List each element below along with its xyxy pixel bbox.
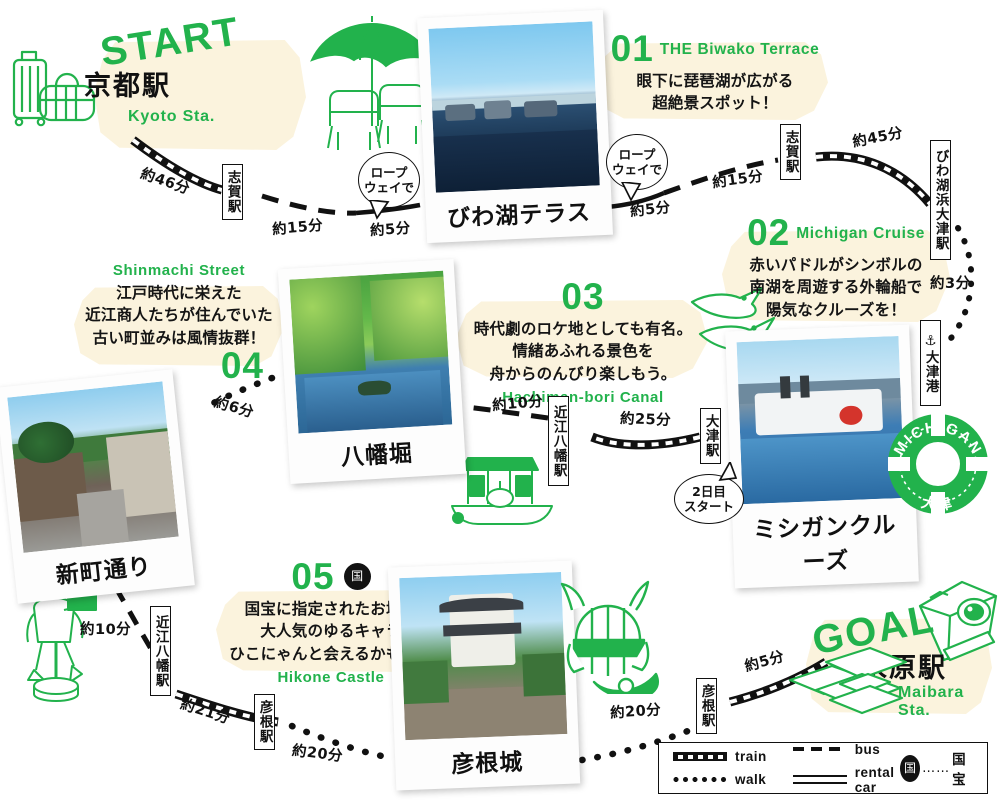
time-kyoto-shiga: 約46分 [138, 162, 193, 199]
legend-col-2: bus rental car [793, 742, 900, 795]
station-omi-hachiman-2[interactable]: 近江八幡駅 [150, 606, 171, 696]
legend-label-walk: walk [735, 772, 766, 787]
station-shiga-1[interactable]: 志賀駅 [222, 164, 243, 220]
bubble-tail-day2-start [716, 462, 738, 482]
legend-label-bus: bus [855, 742, 881, 757]
photo-image-michigan-cruise [737, 336, 905, 504]
national-treasure-badge: 国 [344, 563, 371, 590]
time-hikone-castle: 約20分 [291, 739, 344, 766]
michigan-life-ring-logo: MICHIGAN 大津 [886, 412, 990, 516]
legend: train walk bus rental car 国 …… 国宝 [658, 742, 988, 794]
legend-label-national-treasure: 国宝 [952, 748, 973, 788]
spot-04-name-en: Shinmachi Street [62, 262, 296, 279]
route-shiga-ropeway-bus [262, 196, 356, 213]
time-shinmachi-omihachiman: 約10分 [80, 618, 131, 639]
station-omi-hachiman-1[interactable]: 近江八幡駅 [548, 396, 569, 486]
legend-item-national-treasure: 国 …… 国宝 [900, 748, 973, 788]
station-hikone-2[interactable]: 彦根駅 [696, 678, 717, 734]
spot-02-name-en: Michigan Cruise [796, 225, 925, 243]
photo-caption: びわ湖テラス [436, 185, 602, 242]
bubble-tail-ropeway-out [368, 200, 390, 220]
spot-04-number: 04 [221, 347, 264, 384]
photo-caption: 八幡堀 [299, 424, 456, 483]
station-biwakohama-otsu[interactable]: びわ湖浜大津駅 [930, 140, 951, 260]
spot-04-desc: 江戸時代に栄えた 近江商人たちが住んでいた 古い町並みは風情抜群！ [62, 282, 296, 349]
legend-col-1: train walk [673, 749, 767, 787]
route-otsu-omihachiman-train [592, 437, 700, 445]
legend-label-rental-car: rental car [855, 765, 900, 795]
time-hachimanbori-shinmachi: 約6分 [212, 391, 257, 422]
legend-item-bus: bus [793, 742, 900, 757]
rental-car-swatch [793, 775, 847, 784]
time-shiga-ropeway: 約15分 [271, 214, 324, 239]
station-otsu[interactable]: 大津駅 [700, 408, 721, 464]
start-station-jp: 京都駅 [84, 64, 171, 103]
photo-caption: ミシガンクルーズ [743, 498, 908, 588]
station-otsu-port[interactable]: ⚓大津港 [920, 320, 941, 406]
photo-biwako-terrace[interactable]: びわ湖テラス [417, 10, 613, 243]
photo-shinmachi-street[interactable]: 新町通り [0, 369, 195, 603]
bus-dash-swatch [793, 745, 847, 754]
spot-01-desc: 眼下に琵琶湖が広がる 超絶景スポット！ [598, 70, 832, 115]
spot-03: 03 時代劇のロケ地としても有名。 情緒あふれる景色を 舟からのんびり楽しもう。… [452, 278, 714, 406]
spot-02-desc: 赤いパドルがシンボルの 南湖を周遊する外輪船で 陽気なクルーズを！ [716, 254, 956, 321]
spot-02-number: 02 [747, 214, 790, 251]
legend-nt-dots: …… [922, 761, 950, 776]
time-otsu-omihachiman: 約25分 [620, 407, 672, 430]
spot-01-number: 01 [611, 30, 654, 67]
itinerary-map: MICHIGAN 大津 びわ湖テラス [0, 0, 1000, 800]
bubble-tail-ropeway-back [620, 182, 642, 202]
time-omihachiman-hikone: 約21分 [178, 693, 233, 729]
start-station-en: Kyoto Sta. [128, 108, 215, 126]
photo-image-biwako-terrace [428, 21, 599, 192]
walk-dot-swatch [673, 775, 727, 784]
national-treasure-badge-legend: 国 [900, 755, 920, 782]
route-shiga2-biwakohama-train [816, 156, 930, 204]
time-hikone2-maibara: 約5分 [742, 645, 787, 676]
photo-image-shinmachi-street [7, 381, 178, 552]
photo-prints-icon [786, 640, 914, 726]
station-shiga-2[interactable]: 志賀駅 [780, 124, 801, 180]
legend-item-rental-car: rental car [793, 765, 900, 795]
spot-04: Shinmachi Street 江戸時代に栄えた 近江商人たちが住んでいた 古… [62, 262, 296, 384]
photo-caption: 彦根城 [405, 734, 569, 790]
time-biwakohama-port: 約3分 [930, 272, 971, 293]
photo-image-hachimanbori [289, 271, 452, 434]
rail-ties-3 [592, 437, 700, 445]
legend-label-train: train [735, 749, 767, 764]
spot-05-number: 05 [291, 558, 334, 595]
legend-item-train: train [673, 749, 767, 764]
train-line-swatch [673, 752, 727, 761]
spot-03-number: 03 [561, 278, 604, 315]
time-castle-hikone2: 約20分 [609, 698, 662, 723]
time-shiga2-biwakohama: 約45分 [850, 121, 904, 151]
spot-01-name-en: THE Biwako Terrace [660, 41, 820, 59]
photo-hachimanbori[interactable]: 八幡堀 [278, 259, 466, 484]
time-ropeway-shiga2: 約15分 [711, 165, 765, 193]
spot-03-desc: 時代劇のロケ地としても有名。 情緒あふれる景色を 舟からのんびり楽しもう。 [452, 318, 714, 385]
legend-item-walk: walk [673, 772, 767, 787]
station-hikone-1[interactable]: 彦根駅 [254, 694, 275, 750]
time-omihachiman-hachimanbori: 約10分 [491, 390, 544, 415]
time-ropeway-terrace: 約5分 [369, 217, 411, 241]
spot-02: 02Michigan Cruise 赤いパドルがシンボルの 南湖を周遊する外輪船… [716, 214, 956, 321]
rail-ties-2 [816, 156, 930, 204]
samurai-kabuto-helmet-icon [548, 578, 672, 694]
spot-01: 01THE Biwako Terrace 眼下に琵琶湖が広がる 超絶景スポット！ [598, 30, 832, 115]
photo-image-hikone-castle [399, 572, 567, 740]
